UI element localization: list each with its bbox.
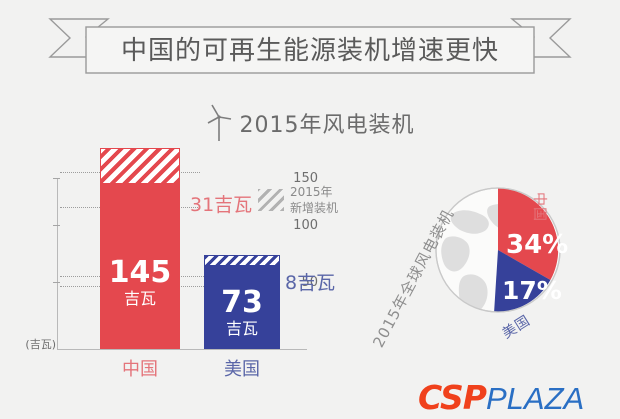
bar-us-added-segment <box>204 255 280 266</box>
page-title: 中国的可再生能源装机增速更快 <box>86 29 534 67</box>
pie-value-us: 17% <box>502 276 562 305</box>
pie-label-china: 中国 <box>530 192 550 222</box>
bar-china-value-unit: 吉瓦 <box>100 291 180 307</box>
china-added-label: 31吉瓦 <box>190 190 252 217</box>
bar-category-label-us: 美国 <box>204 355 280 381</box>
legend-label-line1: 2015年 <box>290 184 338 200</box>
bar-us-value: 73 吉瓦 <box>204 288 280 337</box>
bar-china-value-number: 145 <box>100 258 180 288</box>
us-added-label: 8吉瓦 <box>285 268 335 295</box>
legend-hatch-swatch <box>258 189 284 211</box>
x-axis-line <box>57 349 307 350</box>
legend-label: 2015年 新增装机 <box>290 184 338 216</box>
y-tick-mark-50 <box>53 282 60 283</box>
bar-us-value-number: 73 <box>204 288 280 318</box>
subtitle-text: 2015年风电装机 <box>240 107 415 139</box>
bar-china: 145 吉瓦 中国 <box>100 168 180 349</box>
bar-category-label-china: 中国 <box>100 355 180 381</box>
chart-legend: 2015年 新增装机 <box>258 184 338 216</box>
y-tick-mark-100 <box>53 225 60 226</box>
y-axis-line <box>57 178 58 350</box>
title-ribbon: 中国的可再生能源装机增速更快 <box>48 14 572 76</box>
pie-value-china: 34% <box>506 230 568 260</box>
subtitle-row: 2015年风电装机 <box>0 104 620 142</box>
logo-csp-text: CSP <box>418 378 486 417</box>
bar-us-value-unit: 吉瓦 <box>204 321 280 337</box>
infographic-canvas: 中国的可再生能源装机增速更快 2015年风电装机 150 100 50 (吉瓦) <box>0 0 620 419</box>
bar-china-value: 145 吉瓦 <box>100 258 180 307</box>
csp-plaza-logo: CSP PLAZA <box>418 378 584 417</box>
pie-chart: 34% 17% 中国 美国 <box>428 180 568 320</box>
logo-plaza-text: PLAZA <box>486 381 584 417</box>
y-tick-mark-150 <box>53 178 60 179</box>
y-tick-label-100: 100 <box>274 218 318 233</box>
bar-china-added-segment <box>100 148 180 184</box>
wind-turbine-icon <box>206 104 232 142</box>
y-axis-unit-label: (吉瓦) <box>8 336 56 352</box>
legend-label-line2: 新增装机 <box>290 200 338 216</box>
